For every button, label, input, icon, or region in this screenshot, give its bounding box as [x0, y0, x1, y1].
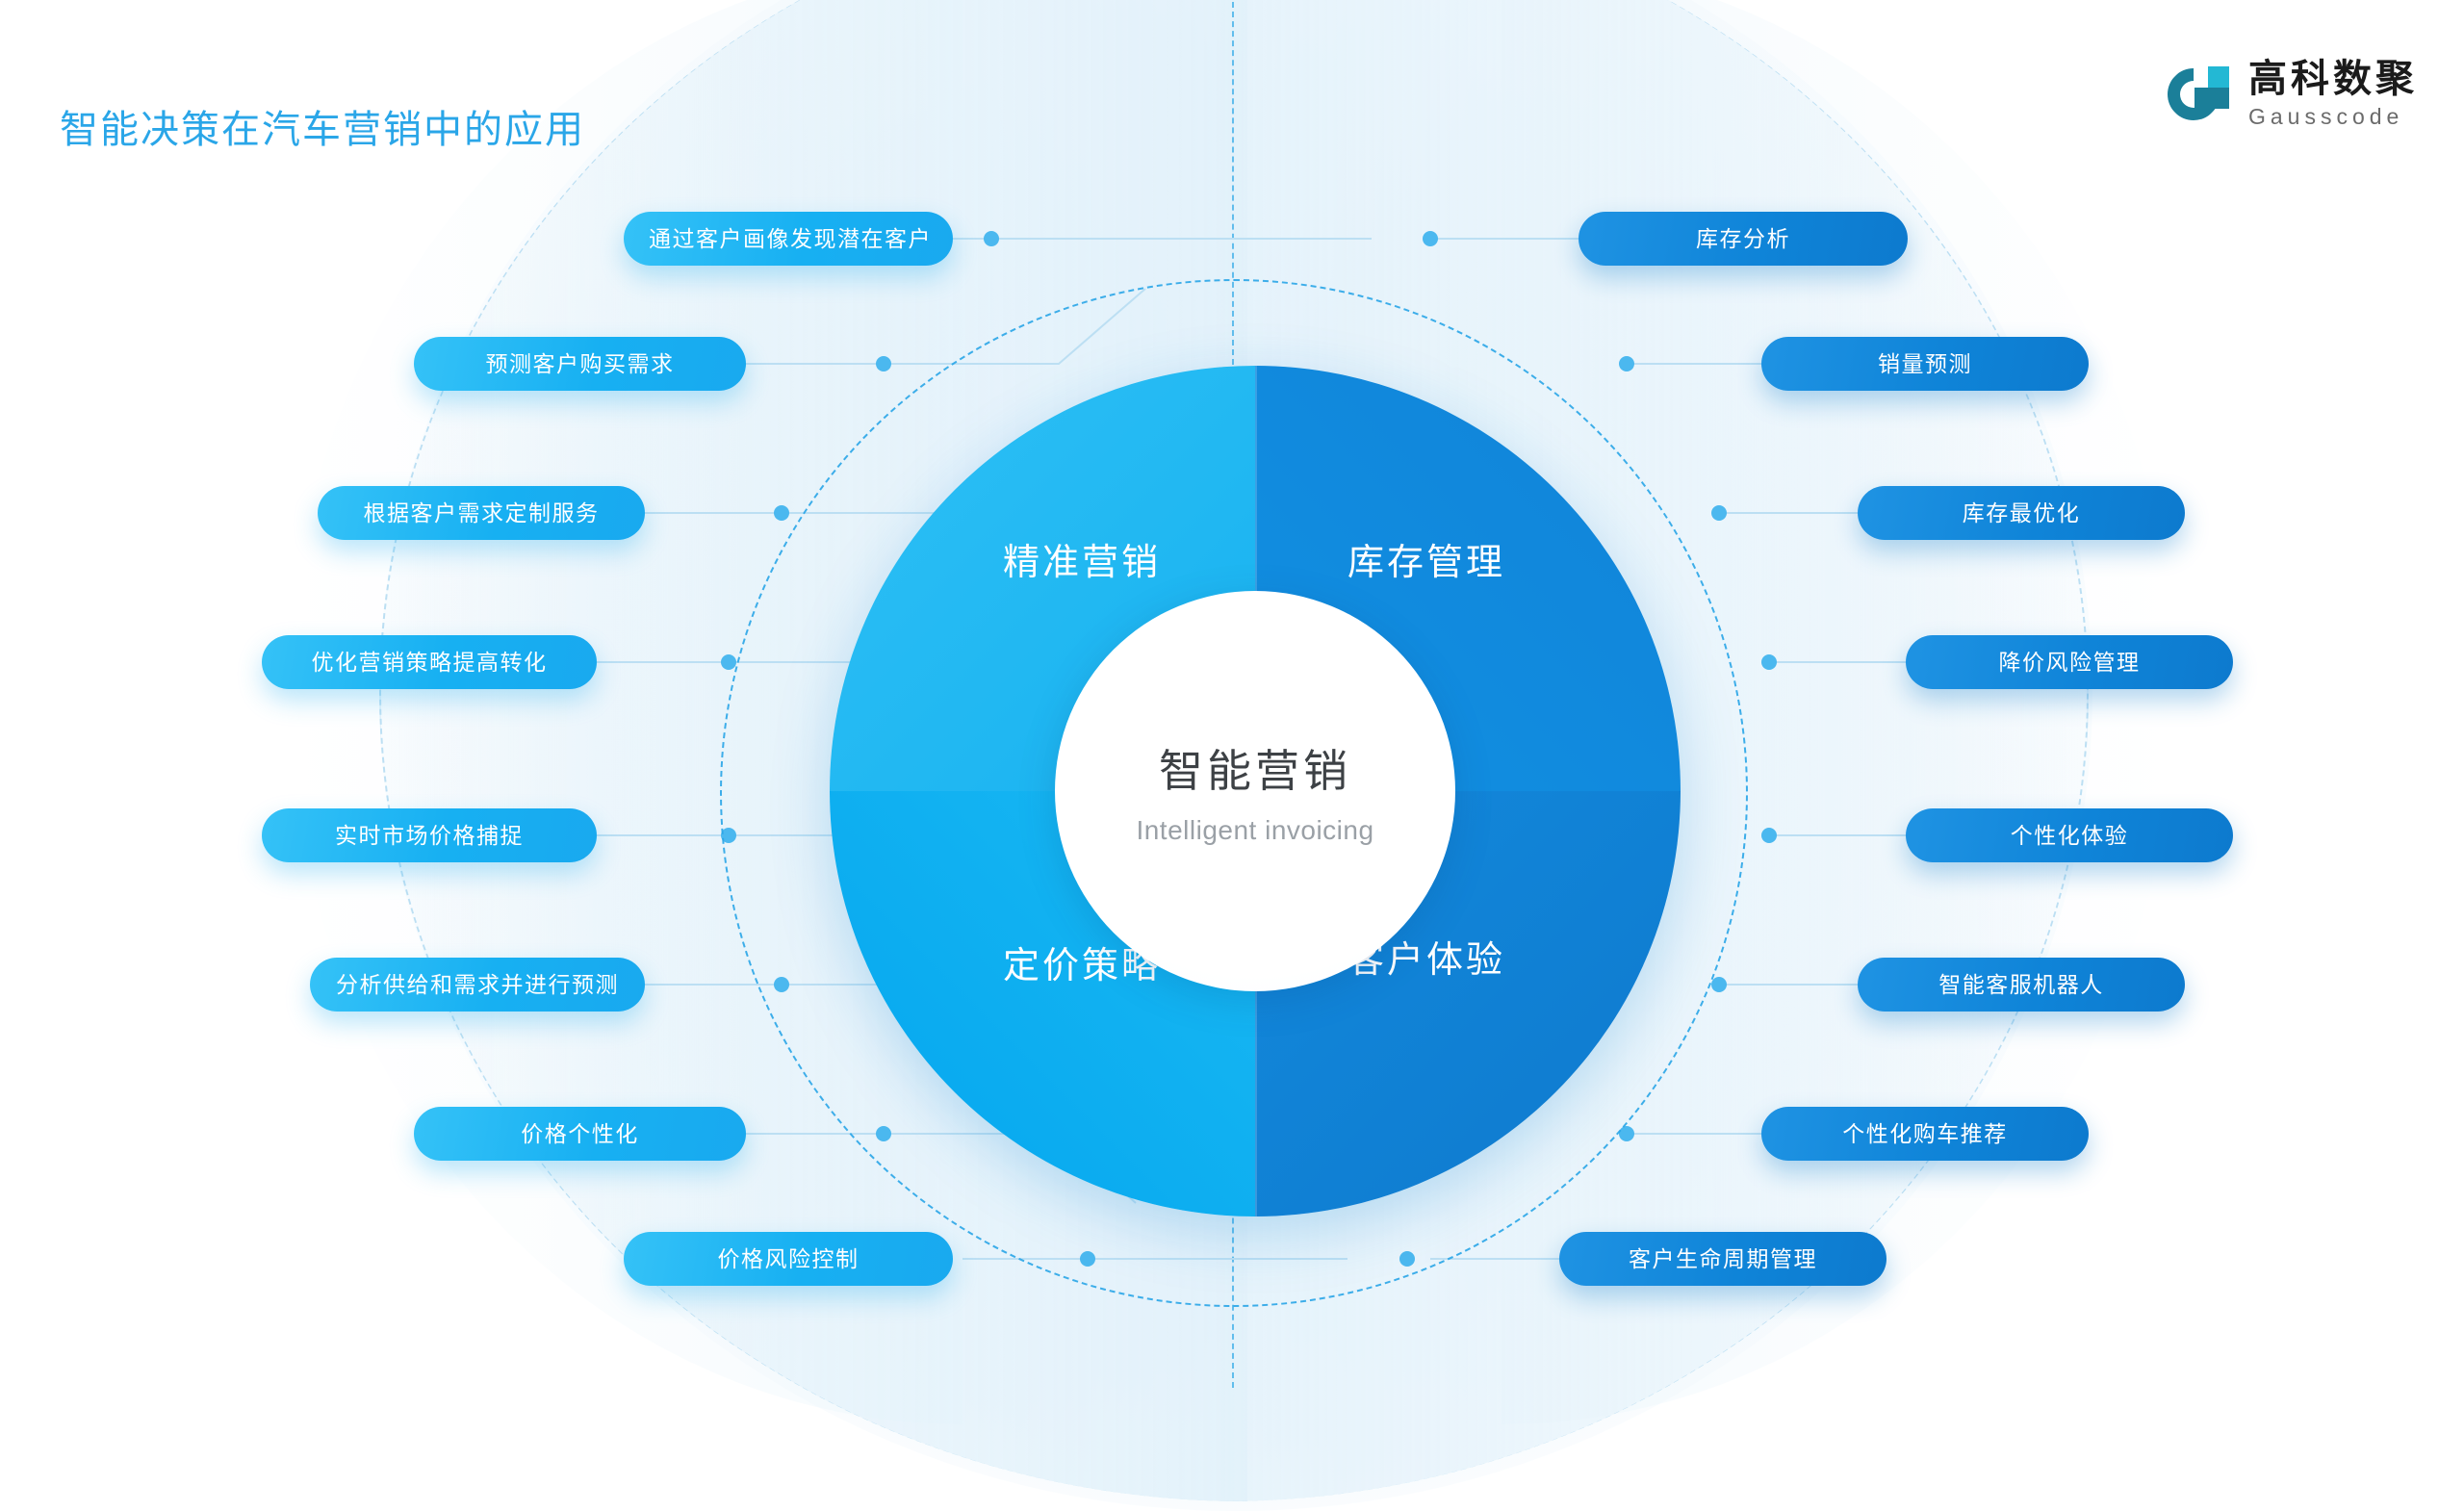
left-item-2[interactable]: 预测客户购买需求 — [414, 337, 746, 391]
left-item-4[interactable]: 优化营销策略提高转化 — [262, 635, 597, 689]
right-item-5[interactable]: 个性化体验 — [1906, 808, 2233, 862]
quadrant-label-top-left: 精准营销 — [1003, 532, 1161, 585]
left-item-6[interactable]: 分析供给和需求并进行预测 — [310, 958, 645, 1012]
left-item-3[interactable]: 根据客户需求定制服务 — [318, 486, 645, 540]
center-hub: 智能营销 Intelligent invoicing — [1055, 591, 1455, 991]
right-item-7[interactable]: 个性化购车推荐 — [1761, 1107, 2089, 1161]
gausscode-logo-icon — [2168, 63, 2231, 126]
left-item-5[interactable]: 实时市场价格捕捉 — [262, 808, 597, 862]
center-title-cn: 智能营销 — [1159, 736, 1351, 800]
right-item-3[interactable]: 库存最优化 — [1858, 486, 2185, 540]
brand-logo: 高科数聚 Gausscode — [2168, 60, 2418, 128]
quadrant-label-top-right: 库存管理 — [1347, 532, 1505, 585]
left-item-1[interactable]: 通过客户画像发现潜在客户 — [624, 212, 953, 266]
logo-name-cn: 高科数聚 — [2248, 60, 2418, 98]
right-item-6[interactable]: 智能客服机器人 — [1858, 958, 2185, 1012]
right-item-2[interactable]: 销量预测 — [1761, 337, 2089, 391]
logo-name-en: Gausscode — [2248, 106, 2418, 128]
right-item-8[interactable]: 客户生命周期管理 — [1559, 1232, 1886, 1286]
right-item-1[interactable]: 库存分析 — [1578, 212, 1908, 266]
page-title: 智能决策在汽车营销中的应用 — [60, 98, 585, 154]
left-item-7[interactable]: 价格个性化 — [414, 1107, 746, 1161]
left-item-8[interactable]: 价格风险控制 — [624, 1232, 953, 1286]
center-title-en: Intelligent invoicing — [1136, 815, 1373, 846]
right-item-4[interactable]: 降价风险管理 — [1906, 635, 2233, 689]
